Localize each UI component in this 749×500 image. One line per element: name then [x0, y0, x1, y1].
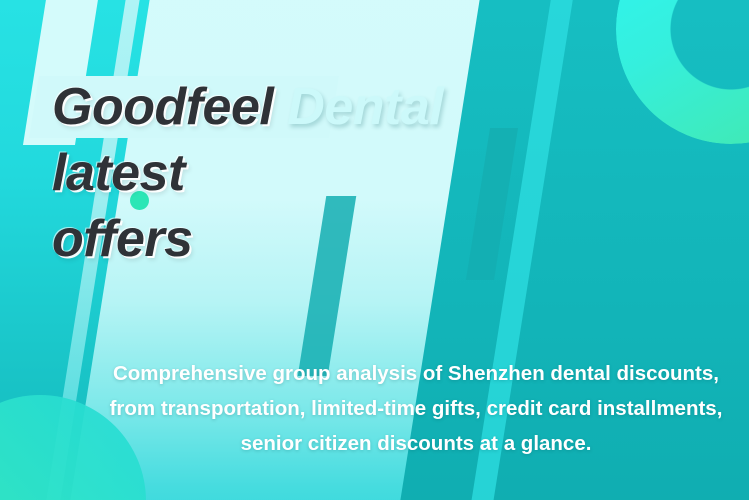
headline-brand: Goodfeel — [52, 78, 273, 136]
headline-highlight: Dental — [287, 78, 443, 136]
headline-line-2: latest — [52, 144, 185, 202]
page-title: Goodfeel Dentallatestoffers — [52, 74, 572, 272]
headline-line-3: offers — [52, 210, 193, 268]
page-subtitle: Comprehensive group analysis of Shenzhen… — [96, 356, 736, 461]
promo-banner: Goodfeel Dentallatestoffers Comprehensiv… — [0, 0, 749, 500]
